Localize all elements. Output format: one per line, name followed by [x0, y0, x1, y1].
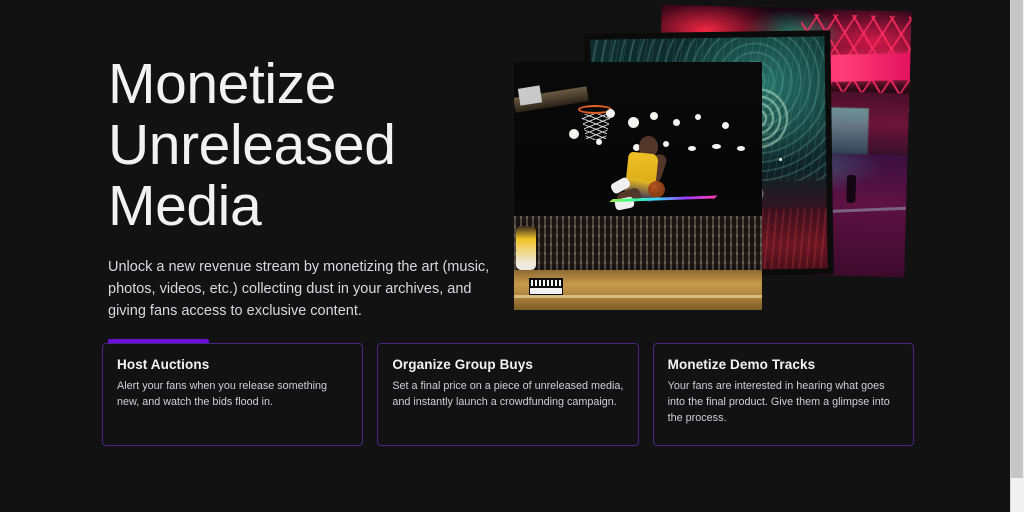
basketball-dunk-photo [514, 62, 762, 310]
basketball-art [514, 62, 762, 310]
neon-pedestrian [846, 175, 856, 203]
feature-card-organize-group-buys[interactable]: Organize Group Buys Set a final price on… [377, 343, 638, 446]
arena-light [596, 139, 602, 145]
page-title: Monetize Unreleased Media [108, 54, 528, 237]
hero-section: Monetize Unreleased Media Unlock a new r… [108, 54, 528, 366]
card-body: Set a final price on a piece of unreleas… [392, 378, 623, 410]
parental-advisory-sticker [529, 278, 563, 295]
card-title: Monetize Demo Tracks [668, 357, 899, 372]
feature-card-host-auctions[interactable]: Host Auctions Alert your fans when you r… [102, 343, 363, 446]
arena-light [673, 119, 680, 126]
arena-light [569, 129, 579, 139]
landing-page: Monetize Unreleased Media Unlock a new r… [0, 0, 1024, 512]
card-title: Organize Group Buys [392, 357, 623, 372]
feature-card-monetize-demo-tracks[interactable]: Monetize Demo Tracks Your fans are inter… [653, 343, 914, 446]
card-body: Your fans are interested in hearing what… [668, 378, 899, 427]
card-body: Alert your fans when you release somethi… [117, 378, 348, 410]
card-title: Host Auctions [117, 357, 348, 372]
scrollbar-thumb[interactable] [1011, 0, 1023, 478]
arena-light [722, 122, 729, 129]
arena-light [606, 109, 615, 118]
parental-advisory-top [530, 279, 562, 288]
parental-advisory-bottom [530, 288, 562, 294]
page-scrollbar[interactable] [1010, 0, 1024, 512]
arena-light [628, 117, 639, 128]
parental-advisory-bars [531, 280, 561, 285]
cosmic-star [779, 158, 782, 161]
basketball [648, 181, 665, 198]
arena-light [650, 112, 658, 120]
feature-cards: Host Auctions Alert your fans when you r… [102, 343, 914, 446]
hero-subtitle: Unlock a new revenue stream by monetizin… [108, 256, 490, 323]
arena-crowd [514, 216, 762, 273]
